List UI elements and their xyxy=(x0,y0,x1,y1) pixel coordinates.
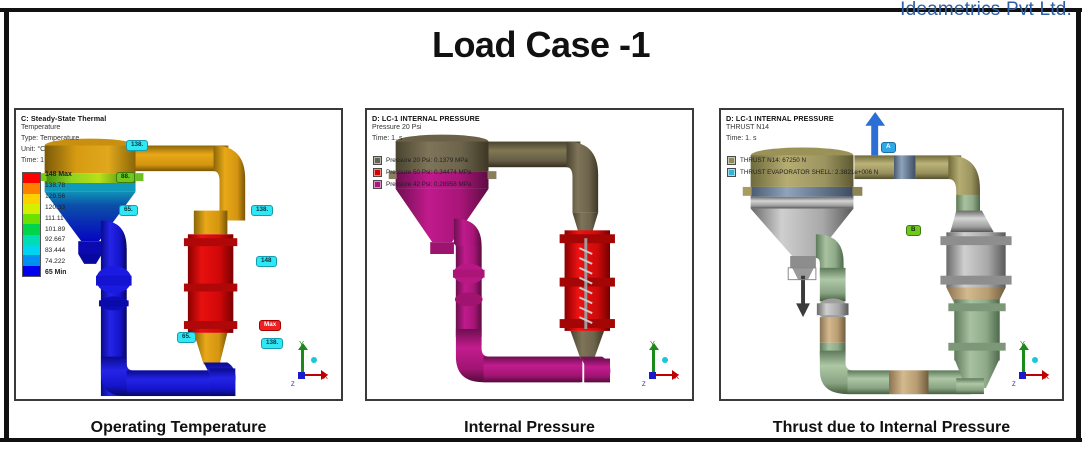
temperature-annotation-tag-4[interactable]: 148 xyxy=(256,256,277,267)
caption-thrust: Thrust due to Internal Pressure xyxy=(719,419,1064,437)
temperature-annotation-tag-6[interactable]: Max xyxy=(259,320,281,331)
pressure-legend-text-0: Pressure 20 Psi: 0.1379 MPa xyxy=(386,157,468,164)
axis-z-label: Z xyxy=(1012,382,1016,388)
temperature-legend-labels: 148 Max138.78129.56120.33111.11101.8992.… xyxy=(45,172,72,277)
temperature-annotation-tag-7[interactable]: 138. xyxy=(261,338,283,349)
legend-color-swatch-5 xyxy=(23,224,40,234)
pressure-legend-row: Pressure 50 Psi: 0.34474 MPa xyxy=(373,168,471,177)
legend-label-2: 129.56 xyxy=(45,194,72,201)
frame-border-left xyxy=(4,8,9,442)
legend-color-swatch-1 xyxy=(23,183,40,193)
axis-z-label: Z xyxy=(642,382,646,388)
thrust-legend-row: THRUST EVAPORATOR SHELL: 2.3821e+006 N xyxy=(727,168,878,177)
coordinate-triad-icon: Y X Z xyxy=(1002,341,1048,387)
pressure-legend-swatch-2 xyxy=(373,180,382,189)
legend-color-swatch-2 xyxy=(23,194,40,204)
pressure-legend-swatch-1 xyxy=(373,168,382,177)
pressure-legend-text-1: Pressure 50 Psi: 0.34474 MPa xyxy=(386,169,471,176)
pressure-legend-swatch-0 xyxy=(373,156,382,165)
thrust-annotation-tag-1[interactable]: B xyxy=(906,225,921,236)
legend-label-3: 120.33 xyxy=(45,205,72,212)
legend-color-swatch-6 xyxy=(23,235,40,245)
coordinate-triad-icon: Y X Z xyxy=(281,341,327,387)
panel-thrust-internal-pressure[interactable]: D: LC-1 INTERNAL PRESSURE THRUST N14 Tim… xyxy=(719,108,1064,401)
legend-label-0: 148 Max xyxy=(45,172,72,179)
caption-internal-pressure: Internal Pressure xyxy=(365,419,694,437)
temperature-annotation-tag-3[interactable]: 138. xyxy=(251,205,273,216)
thrust-annotation-tag-0[interactable]: A xyxy=(881,142,896,153)
legend-color-swatch-4 xyxy=(23,214,40,224)
temperature-color-legend: 148 Max138.78129.56120.33111.11101.8992.… xyxy=(22,172,72,277)
panel-operating-temperature[interactable]: C: Steady-State Thermal Temperature Type… xyxy=(14,108,343,401)
legend-color-swatch-0 xyxy=(23,173,40,183)
thrust-legend-row: THRUST N14: 67250 N xyxy=(727,156,878,165)
thrust-legend-rows: THRUST N14: 67250 NTHRUST EVAPORATOR SHE… xyxy=(727,156,878,180)
page-title: Load Case -1 xyxy=(0,24,1082,66)
legend-label-5: 101.89 xyxy=(45,227,72,234)
slide-root: Ideametrics Pvt Ltd. Load Case -1 C: Ste… xyxy=(0,0,1082,450)
pressure-legend-rows: Pressure 20 Psi: 0.1379 MPaPressure 50 P… xyxy=(373,156,471,192)
temperature-annotation-tag-1[interactable]: 88. xyxy=(116,172,135,183)
frame-border-right xyxy=(1076,8,1081,442)
thrust-legend-swatch-1 xyxy=(727,168,736,177)
legend-label-8: 74.222 xyxy=(45,259,72,266)
company-brand-label: Ideametrics Pvt Ltd. xyxy=(900,0,1072,21)
thrust-legend-text-0: THRUST N14: 67250 N xyxy=(740,157,806,164)
temperature-color-bar xyxy=(22,172,41,277)
temperature-annotation-tag-0[interactable]: 138. xyxy=(126,140,148,151)
pressure-legend-text-2: Pressure 42 Psi: 0.28958 MPa xyxy=(386,181,471,188)
legend-color-swatch-7 xyxy=(23,245,40,255)
pressure-legend-row: Pressure 20 Psi: 0.1379 MPa xyxy=(373,156,471,165)
legend-label-6: 92.667 xyxy=(45,237,72,244)
legend-color-swatch-3 xyxy=(23,204,40,214)
legend-label-1: 138.78 xyxy=(45,183,72,190)
pressure-legend-row: Pressure 42 Psi: 0.28958 MPa xyxy=(373,180,471,189)
legend-label-7: 83.444 xyxy=(45,248,72,255)
caption-operating-temperature: Operating Temperature xyxy=(14,419,343,437)
axis-z-label: Z xyxy=(291,382,295,388)
temperature-annotation-tag-2[interactable]: 65. xyxy=(119,205,138,216)
thrust-legend-swatch-0 xyxy=(727,156,736,165)
panel-internal-pressure[interactable]: D: LC-1 INTERNAL PRESSURE Pressure 20 Ps… xyxy=(365,108,694,401)
coordinate-triad-icon: Y X Z xyxy=(632,341,678,387)
temperature-annotation-tag-5[interactable]: 65. xyxy=(177,332,196,343)
frame-border-bottom xyxy=(0,438,1082,442)
thrust-legend-text-1: THRUST EVAPORATOR SHELL: 2.3821e+006 N xyxy=(740,169,878,176)
legend-label-4: 111.11 xyxy=(45,216,72,223)
legend-color-swatch-9 xyxy=(23,266,40,276)
legend-label-9: 65 Min xyxy=(45,270,72,277)
legend-color-swatch-8 xyxy=(23,255,40,265)
